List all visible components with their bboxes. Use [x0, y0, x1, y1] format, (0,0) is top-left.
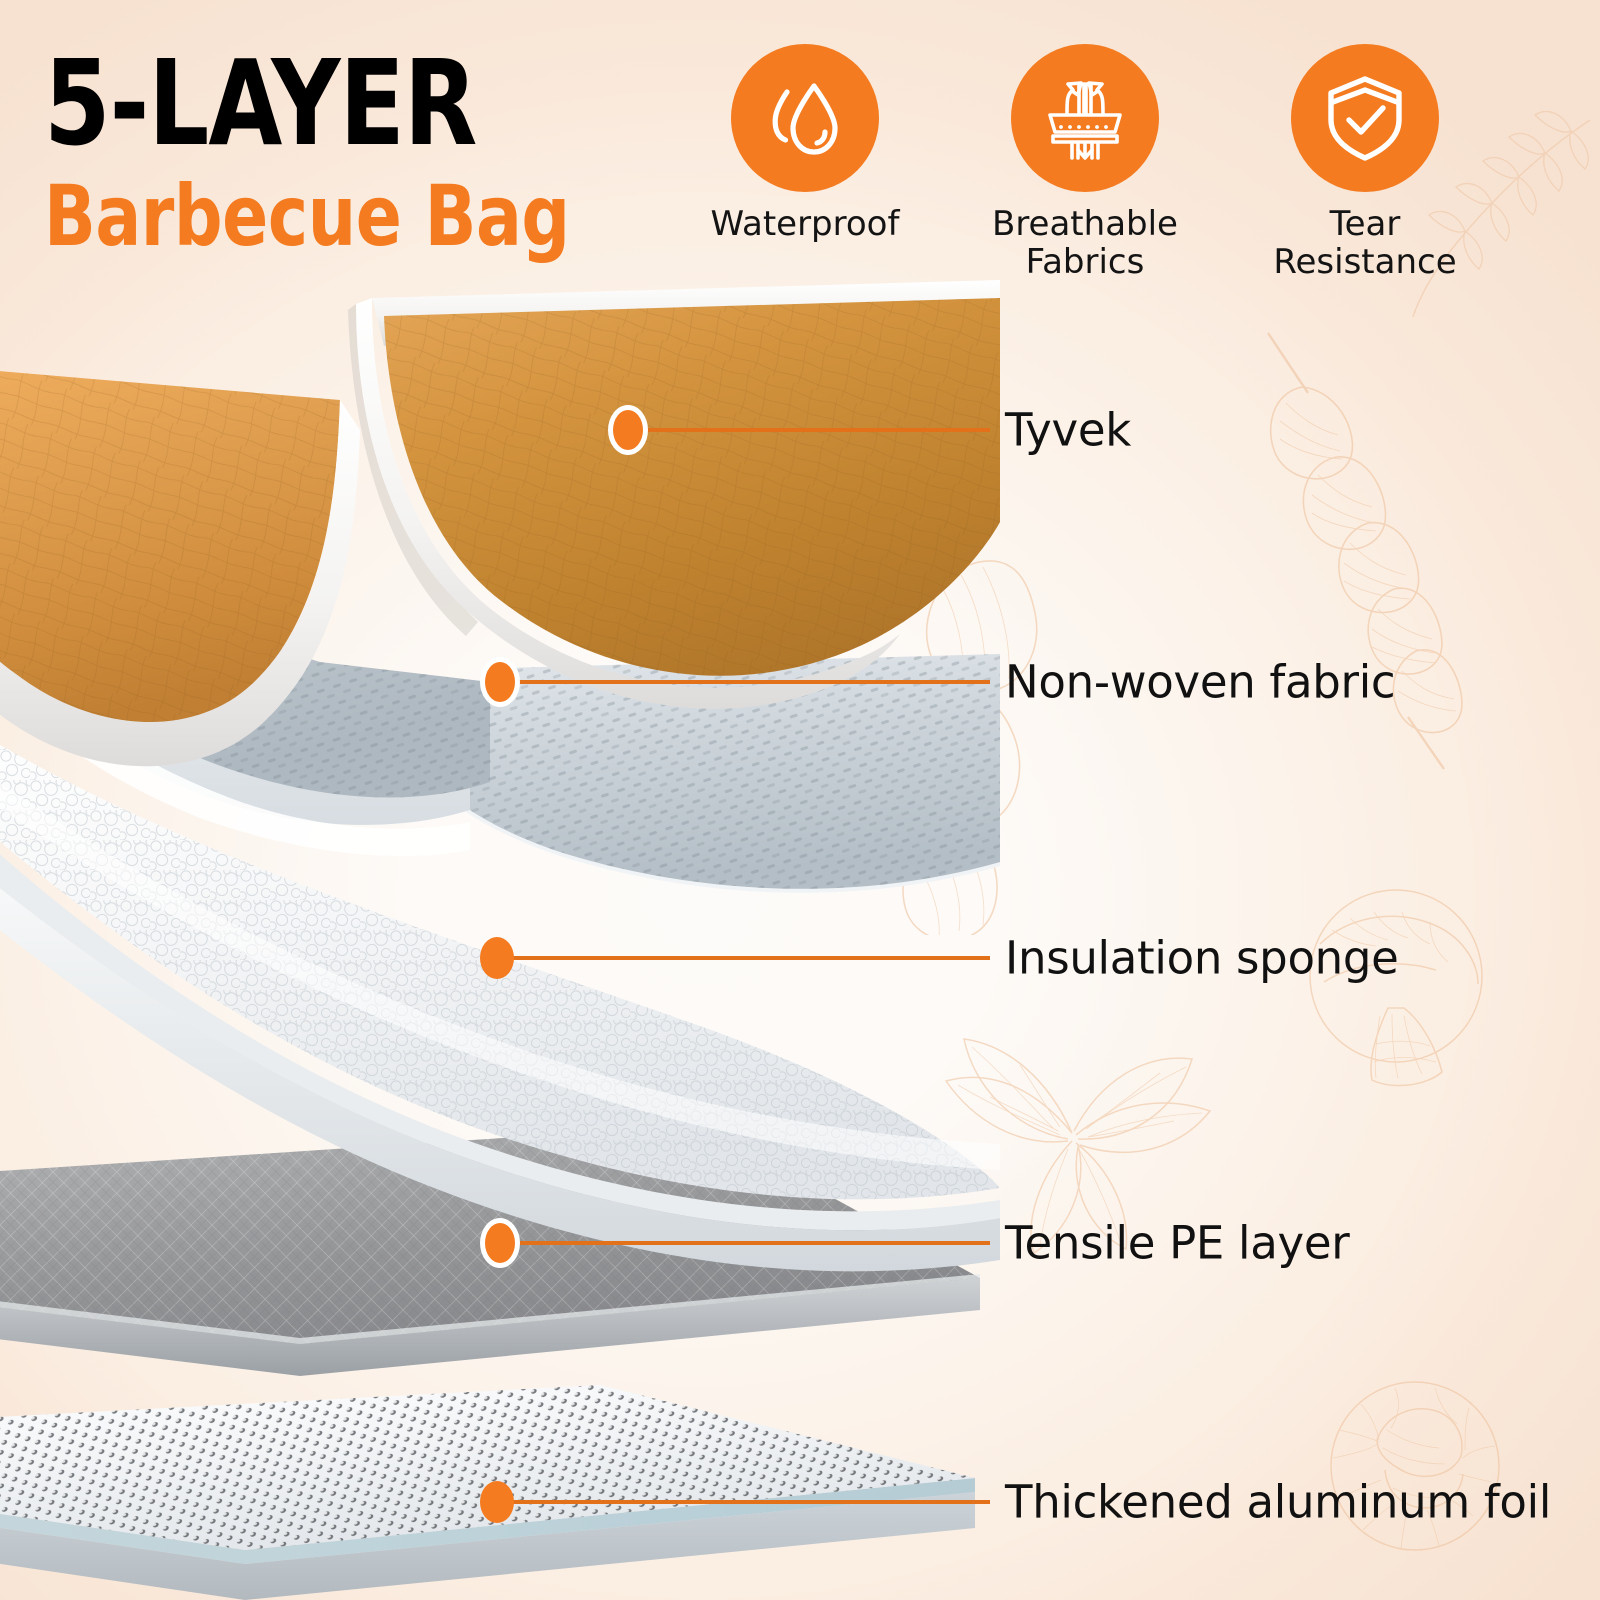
feature-badges: Waterproof — [690, 44, 1480, 294]
layer-label-tensile-pe-layer: Tensile PE layer — [1005, 1217, 1349, 1270]
layer-marker-dot-tyvek[interactable] — [608, 405, 648, 455]
feature-badge-breathable: Breathable Fabrics — [970, 44, 1200, 282]
layer-label-thickened-aluminum-foil: Thickened aluminum foil — [1005, 1476, 1551, 1529]
page-title-sub: Barbecue Bag — [44, 174, 602, 260]
badge-label: Breathable Fabrics — [992, 205, 1178, 282]
badge-circle — [1291, 44, 1439, 192]
badge-label-line-1: Breathable — [992, 205, 1178, 243]
mushroom-sketch-lower — [1315, 1370, 1515, 1570]
exploded-layer-stack — [0, 270, 1010, 1600]
layer-marker-dot-tensile-pe-layer[interactable] — [480, 1218, 520, 1268]
breathable-flow-icon — [1037, 70, 1133, 166]
title-block: 5-LAYER Barbecue Bag — [44, 46, 664, 259]
badge-label: Waterproof — [711, 205, 900, 243]
page-title-main: 5-LAYER — [44, 46, 602, 162]
layer-marker-dot-insulation-sponge[interactable] — [480, 937, 514, 979]
leader-line-tyvek — [645, 428, 990, 432]
layer-marker-dot-thickened-aluminum-foil[interactable] — [480, 1481, 514, 1523]
leader-line-thickened-aluminum-foil — [512, 1500, 990, 1504]
leader-line-tensile-pe-layer — [518, 1241, 990, 1245]
feature-badge-waterproof: Waterproof — [690, 44, 920, 243]
badge-circle — [1011, 44, 1159, 192]
leader-line-non-woven-fabric — [518, 680, 990, 684]
badge-label-line-2: Resistance — [1273, 243, 1456, 281]
badge-label-line-1: Tear — [1273, 205, 1456, 243]
badge-label: Tear Resistance — [1273, 205, 1456, 282]
layer-label-tyvek: Tyvek — [1005, 404, 1131, 457]
layer-label-insulation-sponge: Insulation sponge — [1005, 932, 1399, 985]
feature-badge-tear-resistance: Tear Resistance — [1250, 44, 1480, 282]
layer-label-non-woven-fabric: Non-woven fabric — [1005, 656, 1395, 709]
leader-line-insulation-sponge — [512, 956, 990, 960]
water-drop-icon — [757, 70, 853, 166]
layer-marker-dot-non-woven-fabric[interactable] — [480, 657, 520, 707]
infographic-canvas: 5-LAYER Barbecue Bag Waterproof — [0, 0, 1600, 1600]
badge-circle — [731, 44, 879, 192]
mushroom-sketch-upper — [1280, 880, 1510, 1110]
shield-check-icon — [1317, 70, 1413, 166]
badge-label-line-2: Fabrics — [992, 243, 1178, 281]
